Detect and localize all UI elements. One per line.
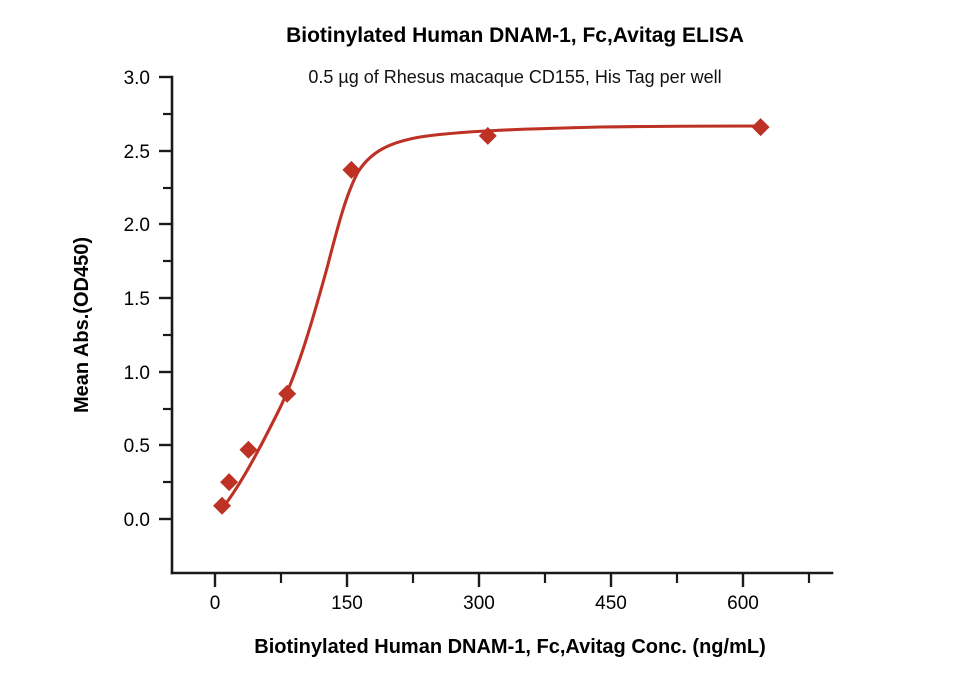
y-tick-label: 1.0 xyxy=(124,363,150,384)
x-tick-label: 300 xyxy=(463,593,495,614)
y-axis-title: Mean Abs.(OD450) xyxy=(71,237,93,413)
y-tick-label: 2.0 xyxy=(124,215,150,236)
y-tick-label: 3.0 xyxy=(124,68,150,89)
x-axis-title: Biotinylated Human DNAM-1, Fc,Avitag Con… xyxy=(254,636,766,658)
chart-title: Biotinylated Human DNAM-1, Fc,Avitag ELI… xyxy=(286,24,744,47)
elisa-binding-chart: Biotinylated Human DNAM-1, Fc,Avitag ELI… xyxy=(0,0,960,674)
x-tick-label: 150 xyxy=(331,593,363,614)
x-tick-label: 600 xyxy=(727,593,759,614)
y-tick-label: 0.5 xyxy=(124,436,150,457)
y-tick-label: 2.5 xyxy=(124,142,150,163)
chart-subtitle: 0.5 µg of Rhesus macaque CD155, His Tag … xyxy=(308,67,721,87)
x-tick-label: 0 xyxy=(210,593,221,614)
y-tick-label: 1.5 xyxy=(124,289,150,310)
y-tick-label: 0.0 xyxy=(124,510,150,531)
x-tick-label: 450 xyxy=(595,593,627,614)
